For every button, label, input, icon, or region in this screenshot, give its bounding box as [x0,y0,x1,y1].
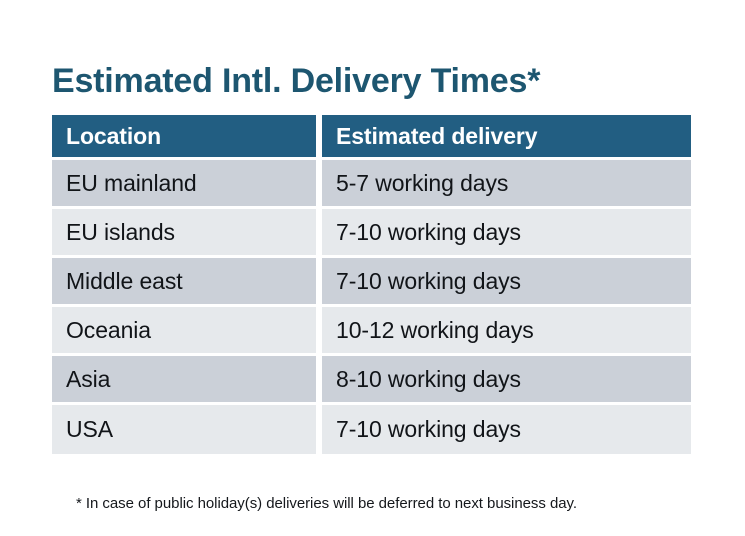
cell-estimated-delivery: 7-10 working days [322,209,691,258]
table-header: Location Estimated delivery [52,115,691,160]
table-row: Oceania 10-12 working days [52,307,691,356]
column-header-location: Location [52,115,322,160]
cell-estimated-delivery: 8-10 working days [322,356,691,405]
cell-location: EU islands [52,209,322,258]
column-header-estimated-delivery: Estimated delivery [322,115,691,160]
table-row: Asia 8-10 working days [52,356,691,405]
table-body: EU mainland 5-7 working days EU islands … [52,160,691,454]
cell-estimated-delivery: 10-12 working days [322,307,691,356]
cell-estimated-delivery: 7-10 working days [322,258,691,307]
table-footnote: * In case of public holiday(s) deliverie… [76,494,577,514]
page-title: Estimated Intl. Delivery Times* [52,59,540,103]
table-row: EU mainland 5-7 working days [52,160,691,209]
cell-estimated-delivery: 7-10 working days [322,405,691,454]
cell-location: USA [52,405,322,454]
cell-location: EU mainland [52,160,322,209]
cell-location: Asia [52,356,322,405]
delivery-times-panel: Estimated Intl. Delivery Times* Location… [0,0,745,536]
table-row: USA 7-10 working days [52,405,691,454]
delivery-times-table: Location Estimated delivery EU mainland … [52,115,691,454]
cell-location: Middle east [52,258,322,307]
table-row: Middle east 7-10 working days [52,258,691,307]
cell-location: Oceania [52,307,322,356]
table-header-row: Location Estimated delivery [52,115,691,160]
table-row: EU islands 7-10 working days [52,209,691,258]
cell-estimated-delivery: 5-7 working days [322,160,691,209]
